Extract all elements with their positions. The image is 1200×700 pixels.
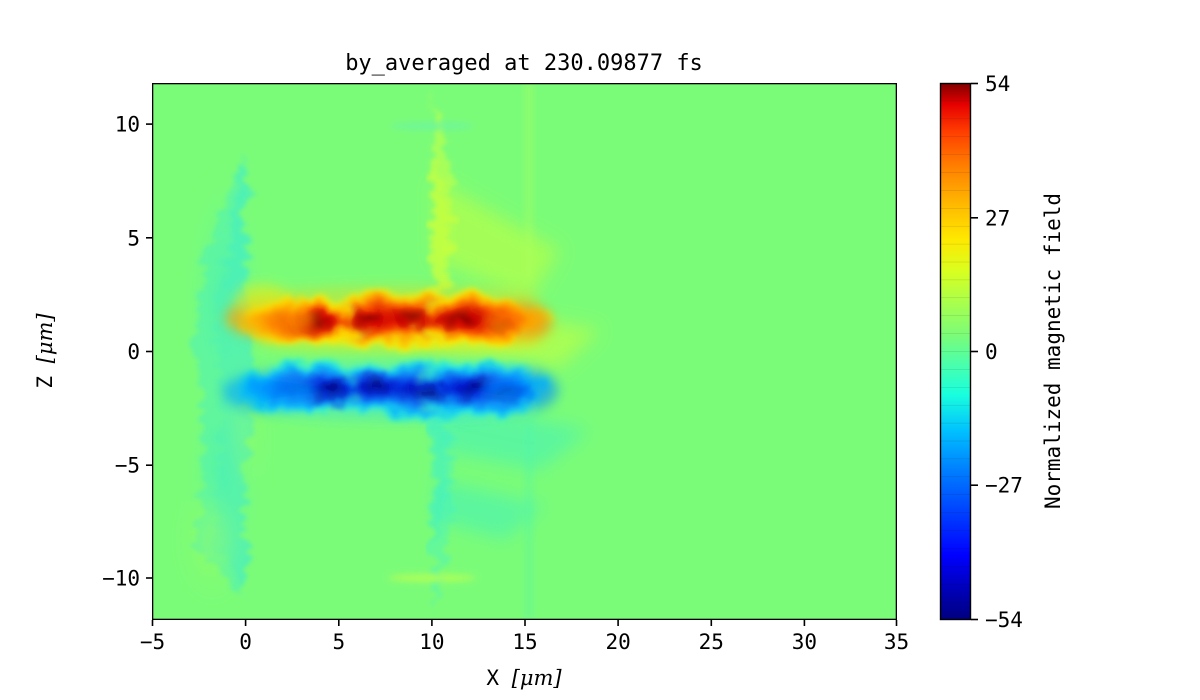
x-axis: −5 0 5 10 15 20 25 30 35 X [μm] (140, 620, 909, 690)
x-tick-label-5: 20 (605, 630, 630, 654)
y-tick-label-1: −5 (115, 454, 140, 478)
negative-field-lobe (222, 359, 558, 421)
matplotlib-figure: by_averaged at 230.09877 fs −5 0 5 10 15… (0, 0, 1200, 700)
top-streak (390, 122, 474, 130)
colorbar-tick-marks (971, 84, 978, 620)
colorbar-label: Normalized magnetic field (1041, 193, 1065, 509)
plot-title: by_averaged at 230.09877 fs (345, 51, 703, 76)
positive-field-lobe (225, 284, 554, 353)
heatmap-plot-area (152, 83, 898, 620)
x-tick-label-8: 35 (884, 630, 909, 654)
y-tick-marks (146, 124, 153, 578)
colorbar-tick-label-2: 0 (985, 340, 998, 364)
x-tick-label-6: 25 (699, 630, 724, 654)
y-tick-label-2: 0 (127, 340, 140, 364)
x-tick-marks (153, 620, 897, 626)
y-axis: −10 −5 0 5 10 Z [μm] (33, 113, 153, 591)
y-axis-label-unit: [μm] (33, 313, 57, 364)
colorbar: 54 27 0 −27 −54 Normalized magnetic fiel… (940, 72, 1065, 632)
y-tick-label-0: −10 (102, 567, 140, 591)
x-tick-label-1: 0 (239, 630, 252, 654)
figure-canvas: by_averaged at 230.09877 fs −5 0 5 10 15… (0, 0, 1200, 700)
x-tick-label-7: 30 (792, 630, 817, 654)
colorbar-tick-label-1: 27 (985, 206, 1010, 230)
y-axis-label: Z [μm] (33, 313, 57, 389)
x-axis-label: X [μm] (486, 666, 562, 690)
colorbar-tick-label-3: −27 (985, 474, 1023, 498)
x-tick-label-0: −5 (140, 630, 165, 654)
y-axis-label-text: Z (33, 376, 57, 389)
y-tick-label-3: 5 (127, 226, 140, 250)
x-tick-label-4: 15 (512, 630, 537, 654)
x-axis-label-unit: [μm] (512, 666, 563, 690)
colorbar-tick-label-0: 54 (985, 72, 1010, 96)
x-axis-label-text: X (486, 666, 499, 690)
x-tick-label-2: 5 (332, 630, 345, 654)
x-tick-label-3: 10 (419, 630, 444, 654)
y-tick-label-4: 10 (115, 113, 140, 137)
bottom-streak (388, 574, 476, 582)
colorbar-tick-label-4: −54 (985, 608, 1023, 632)
